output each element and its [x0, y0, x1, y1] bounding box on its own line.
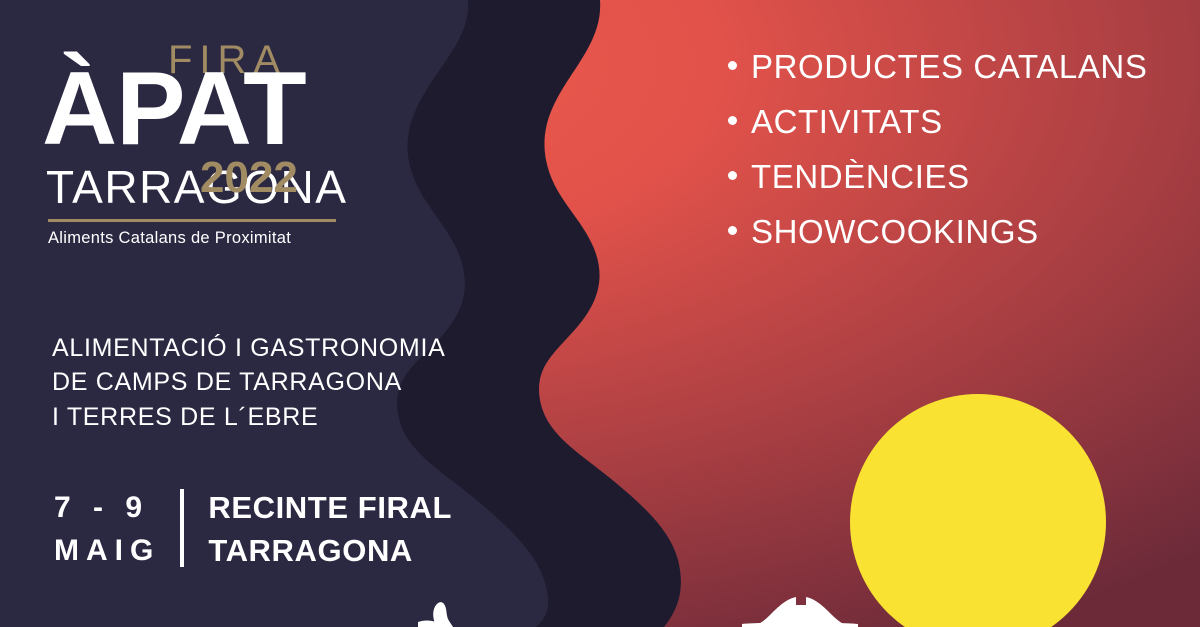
feature-label: SHOWCOOKINGS — [751, 215, 1039, 248]
event-logo: FIRA ÀPAT 2022 TARRAGONA Aliments Catala… — [48, 34, 348, 246]
sponsor-mark-left-base-icon — [418, 621, 436, 627]
bullet-dot-icon — [728, 61, 737, 70]
subtitle-line-2: DE CAMPS DE TARRAGONA — [52, 365, 445, 399]
date-range: 7 - 9 — [54, 487, 160, 530]
list-item: PRODUCTES CATALANS — [728, 50, 1147, 83]
logo-divider-rule — [48, 219, 336, 222]
feature-list: PRODUCTES CATALANS ACTIVITATS TENDÈNCIES… — [728, 50, 1147, 270]
list-item: ACTIVITATS — [728, 105, 1147, 138]
list-item: SHOWCOOKINGS — [728, 215, 1147, 248]
subtitle-line-3: I TERRES DE L´EBRE — [52, 400, 445, 434]
bullet-dot-icon — [728, 116, 737, 125]
venue-line-1: RECINTE FIRAL — [208, 487, 452, 530]
date-month: MAIG — [54, 530, 160, 573]
sponsor-mark-right-icon — [752, 597, 850, 627]
logo-city: TARRAGONA — [48, 164, 348, 210]
sponsor-mark-left-icon — [433, 602, 453, 627]
promotional-poster: FIRA ÀPAT 2022 TARRAGONA Aliments Catala… — [0, 0, 1200, 627]
bullet-dot-icon — [728, 226, 737, 235]
subtitle-line-1: ALIMENTACIÓ I GASTRONOMIA — [52, 331, 445, 365]
logo-apat-word: ÀPAT — [48, 62, 348, 158]
feature-label: TENDÈNCIES — [751, 160, 970, 193]
bullet-dot-icon — [728, 171, 737, 180]
list-item: TENDÈNCIES — [728, 160, 1147, 193]
date-venue-block: 7 - 9 MAIG RECINTE FIRAL TARRAGONA — [54, 487, 452, 573]
feature-label: PRODUCTES CATALANS — [751, 50, 1147, 83]
logo-tagline: Aliments Catalans de Proximitat — [48, 230, 348, 247]
sponsor-mark-right-base-icon — [742, 623, 858, 627]
event-dates: 7 - 9 MAIG — [54, 487, 180, 573]
sponsor-logos-cropped — [0, 593, 1200, 627]
event-venue: RECINTE FIRAL TARRAGONA — [184, 487, 452, 573]
logo-year: 2022 — [200, 156, 298, 200]
feature-label: ACTIVITATS — [751, 105, 943, 138]
venue-line-2: TARRAGONA — [208, 530, 452, 573]
subtitle-block: ALIMENTACIÓ I GASTRONOMIA DE CAMPS DE TA… — [52, 331, 445, 434]
